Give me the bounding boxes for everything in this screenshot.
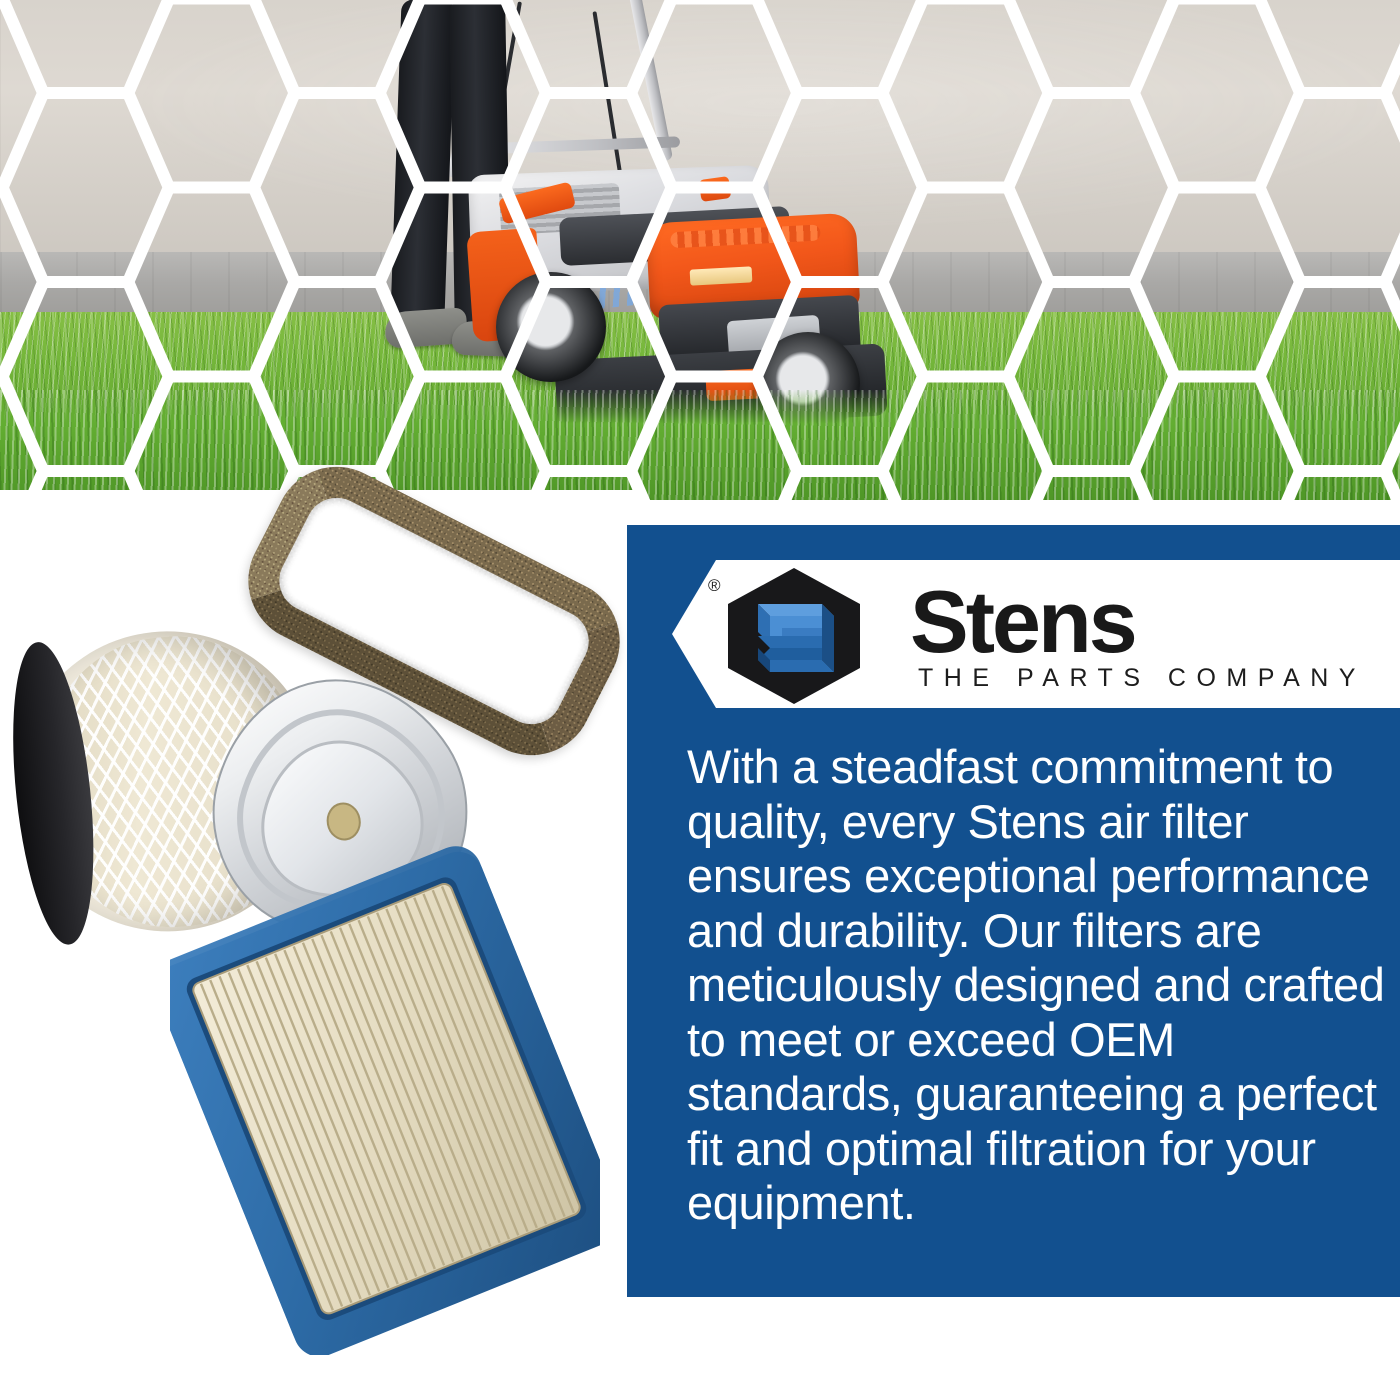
product-photo-section (0, 490, 640, 1400)
marketing-banner: ® Stens THE PARTS COMPANY With a steadfa… (0, 0, 1400, 1400)
stens-tagline: THE PARTS COMPANY (918, 664, 1366, 693)
marketing-body-copy: With a steadfast commitment to quality, … (687, 740, 1387, 1231)
stens-logo: ® Stens THE PARTS COMPANY (672, 560, 1400, 708)
flat-panel-air-filter (170, 835, 600, 1355)
hero-photo-section (0, 0, 1400, 500)
hexagon-pattern-overlay (0, 0, 1400, 500)
stens-wordmark: Stens (910, 578, 1135, 666)
brand-message-panel: ® Stens THE PARTS COMPANY With a steadfa… (627, 525, 1400, 1297)
registered-mark-icon: ® (708, 576, 721, 596)
